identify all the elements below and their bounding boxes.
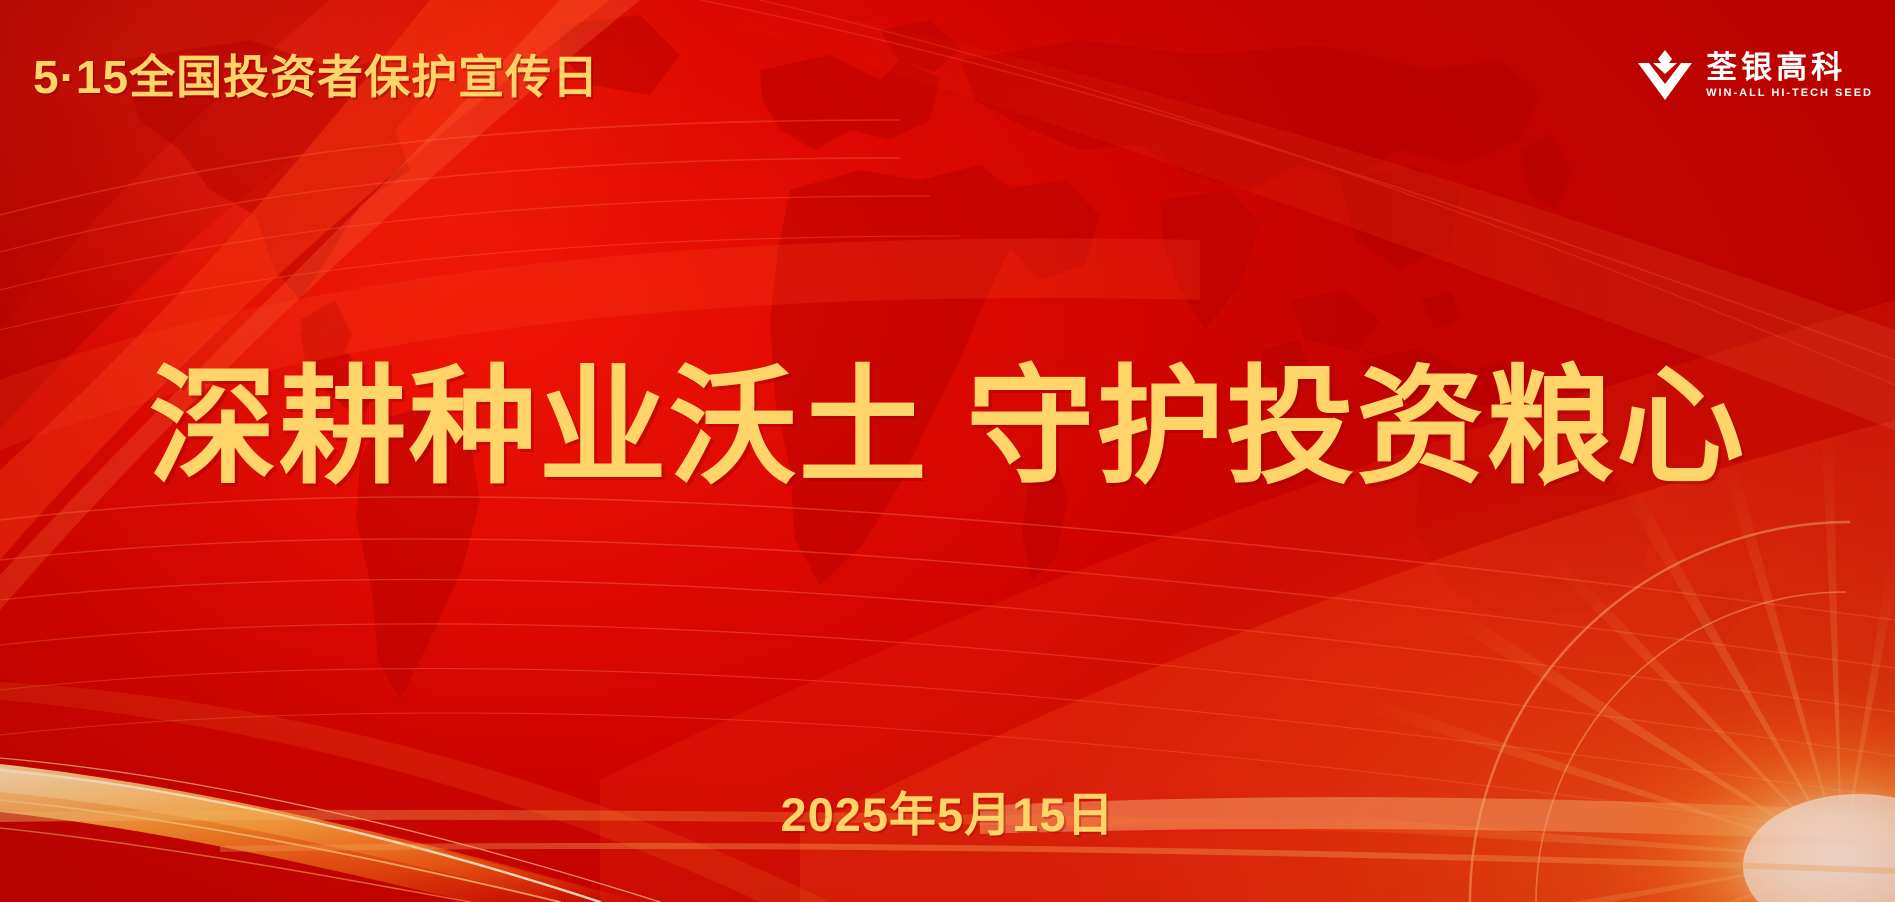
campaign-subtitle: 5·15全国投资者保护宣传日 — [33, 54, 599, 100]
main-headline: 深耕种业沃土 守护投资粮心 — [0, 352, 1895, 503]
company-logo: 荃银高科 WIN-ALL HI-TECH SEED — [1636, 48, 1873, 104]
logo-text-block: 荃银高科 WIN-ALL HI-TECH SEED — [1706, 52, 1873, 101]
chevron-diamond-logo-icon — [1636, 48, 1694, 104]
banner-canvas: 5·15全国投资者保护宣传日 荃银高科 WIN-ALL HI-TECH SEED… — [0, 0, 1895, 902]
logo-english-name: WIN-ALL HI-TECH SEED — [1706, 87, 1873, 100]
logo-chinese-name: 荃银高科 — [1706, 52, 1846, 85]
event-date: 2025年5月15日 — [0, 791, 1895, 838]
